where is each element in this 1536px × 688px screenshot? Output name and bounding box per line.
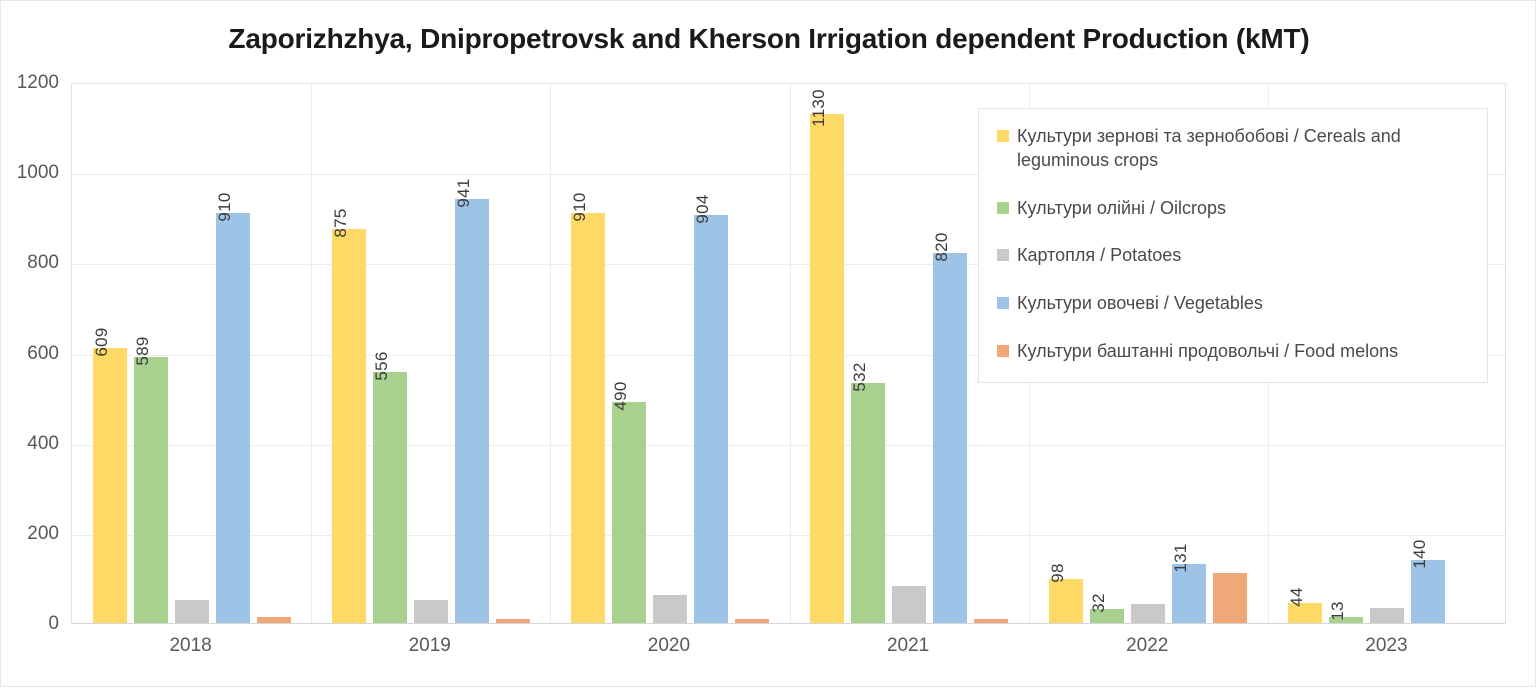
bar[interactable] [455,199,489,623]
bar-slot: 1130 [810,84,844,623]
bar-value-label: 490 [612,381,629,410]
bar[interactable] [933,253,967,623]
y-axis-tick-label: 600 [3,343,59,365]
bar-value-label: 556 [373,352,390,381]
y-axis-tick-label: 0 [3,613,59,635]
bar[interactable] [496,619,530,624]
bar[interactable] [216,213,250,623]
bar-value-label: 904 [694,195,711,224]
bar-value-label: 532 [851,363,868,392]
bar-slot: 820 [933,84,967,623]
y-axis-tick-label: 400 [3,433,59,455]
legend-item[interactable]: Культури баштанні продовольчі / Food mel… [997,340,1469,364]
legend-item[interactable]: Культури овочеві / Vegetables [997,292,1469,316]
bar[interactable] [1213,573,1247,623]
legend-item-label: Культури баштанні продовольчі / Food mel… [1017,340,1398,364]
bar-value-label: 910 [571,192,588,221]
x-axis-tick-label: 2022 [1126,635,1168,657]
bar-value-label: 140 [1411,539,1428,568]
bar-value-label: 1130 [810,89,827,127]
bar-slot: 589 [134,84,168,623]
bar[interactable] [257,617,291,623]
bar-slot: 941 [455,84,489,623]
bar[interactable] [694,215,728,623]
bar-slot: 490 [612,84,646,623]
bar-slot: 910 [216,84,250,623]
bar-slot: 609 [93,84,127,623]
bar-slot [414,84,448,623]
bar[interactable] [571,213,605,623]
bar-slot: 910 [571,84,605,623]
bar-slot [257,84,291,623]
legend-item-label: Культури овочеві / Vegetables [1017,292,1263,316]
bar[interactable] [1172,564,1206,623]
bar-value-label: 131 [1172,543,1189,572]
bar[interactable] [735,619,769,623]
legend-item[interactable]: Культури зернові та зернобобові / Cereal… [997,125,1469,173]
chart-title: Zaporizhzhya, Dnipropetrovsk and Kherson… [1,23,1536,55]
legend-swatch-icon [997,297,1009,309]
bar[interactable] [974,619,1008,623]
bar[interactable] [373,372,407,623]
bar[interactable] [1131,604,1165,623]
bar-slot [892,84,926,623]
bar-value-label: 589 [134,337,151,366]
bar-value-label: 941 [455,178,472,207]
bar[interactable] [612,402,646,623]
bar[interactable] [1370,608,1404,623]
bar-group: 875556941 [311,84,550,623]
bar-value-label: 98 [1049,563,1066,583]
bar-slot [496,84,530,623]
y-axis-tick-label: 800 [3,252,59,274]
chart-container: Zaporizhzhya, Dnipropetrovsk and Kherson… [0,0,1536,687]
y-axis-tick-label: 1000 [3,162,59,184]
y-axis-tick-label: 200 [3,523,59,545]
bar-group: 910490904 [550,84,789,623]
bar[interactable] [810,114,844,623]
x-axis-tick-label: 2019 [409,635,451,657]
bar-slot [175,84,209,623]
bar-value-label: 609 [93,328,110,357]
legend-swatch-icon [997,202,1009,214]
bar[interactable] [93,348,127,623]
bar[interactable] [851,383,885,623]
x-axis-tick-label: 2020 [648,635,690,657]
bar-slot: 532 [851,84,885,623]
bar[interactable] [1411,560,1445,623]
bar-slot [735,84,769,623]
bar-value-label: 820 [933,233,950,262]
legend-item[interactable]: Культури олійні / Oilcrops [997,197,1469,221]
bar[interactable] [892,586,926,623]
legend-item[interactable]: Картопля / Potatoes [997,244,1469,268]
bar[interactable] [134,357,168,623]
bar-slot [653,84,687,623]
x-axis-tick-label: 2018 [169,635,211,657]
bar-value-label: 875 [332,208,349,237]
legend-item-label: Культури зернові та зернобобові / Cereal… [1017,125,1469,173]
legend-item-label: Картопля / Potatoes [1017,244,1181,268]
legend-swatch-icon [997,345,1009,357]
bar-slot: 904 [694,84,728,623]
bar-value-label: 32 [1090,593,1107,613]
legend-swatch-icon [997,130,1009,142]
bar-value-label: 44 [1288,587,1305,607]
bar-slot: 875 [332,84,366,623]
bar[interactable] [1049,579,1083,623]
bar[interactable] [653,595,687,623]
bar-value-label: 910 [216,192,233,221]
chart-legend: Культури зернові та зернобобові / Cereal… [978,108,1488,383]
bar[interactable] [175,600,209,623]
bar-slot: 556 [373,84,407,623]
legend-item-label: Культури олійні / Oilcrops [1017,197,1226,221]
bar-value-label: 13 [1329,601,1346,621]
legend-swatch-icon [997,249,1009,261]
bar[interactable] [414,600,448,623]
bar-group: 609589910 [72,84,311,623]
x-axis-tick-label: 2023 [1365,635,1407,657]
bar[interactable] [332,229,366,623]
y-axis-tick-label: 1200 [3,72,59,94]
x-axis-tick-label: 2021 [887,635,929,657]
